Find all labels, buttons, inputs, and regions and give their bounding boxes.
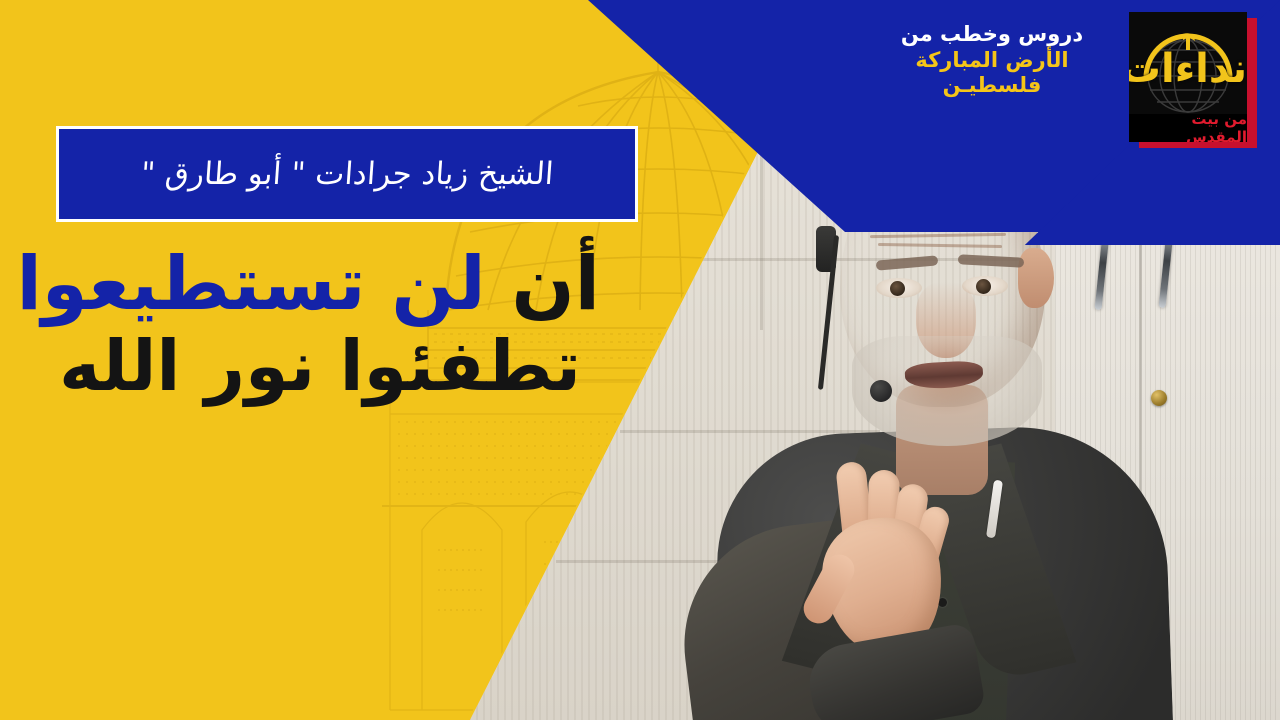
headline-word-an: أن: [511, 241, 600, 327]
tagline-line-2: الأرض المباركة: [872, 48, 1112, 74]
lapel-mic-icon: [870, 380, 892, 402]
logo-black-plate: نداءات من بيت المقدس: [1129, 12, 1247, 142]
tagline-line-1: دروس وخطب من: [872, 22, 1112, 48]
speaker-name-text: الشيخ زياد جرادات " أبو طارق ": [140, 156, 555, 192]
channel-tagline: دروس وخطب من الأرض المباركة فلسطيـن: [872, 22, 1112, 99]
headline-word-lan-tastatiu: لن تستطيعوا: [16, 241, 485, 327]
sleeve-cuff: [803, 622, 986, 720]
thumbnail-canvas: دروس وخطب من الأرض المباركة فلسطيـن نداء…: [0, 0, 1280, 720]
headline-line-1: أن لن تستطيعوا: [40, 246, 600, 324]
headline-line-2: تطفئوا نور الله: [40, 330, 600, 404]
channel-logo: نداءات من بيت المقدس: [1129, 12, 1257, 150]
ear: [1018, 248, 1054, 308]
logo-script-text: نداءات: [1129, 46, 1247, 92]
tagline-line-3: فلسطيـن: [872, 73, 1112, 99]
eye-left: [876, 278, 922, 298]
speaker-name-banner: الشيخ زياد جرادات " أبو طارق ": [56, 126, 638, 222]
logo-bottom-text: من بيت المقدس: [1129, 110, 1247, 142]
logo-bottom-strip: من بيت المقدس: [1129, 114, 1247, 142]
headline-block: أن لن تستطيعوا تطفئوا نور الله: [40, 246, 600, 403]
gesturing-hand: [810, 460, 960, 650]
